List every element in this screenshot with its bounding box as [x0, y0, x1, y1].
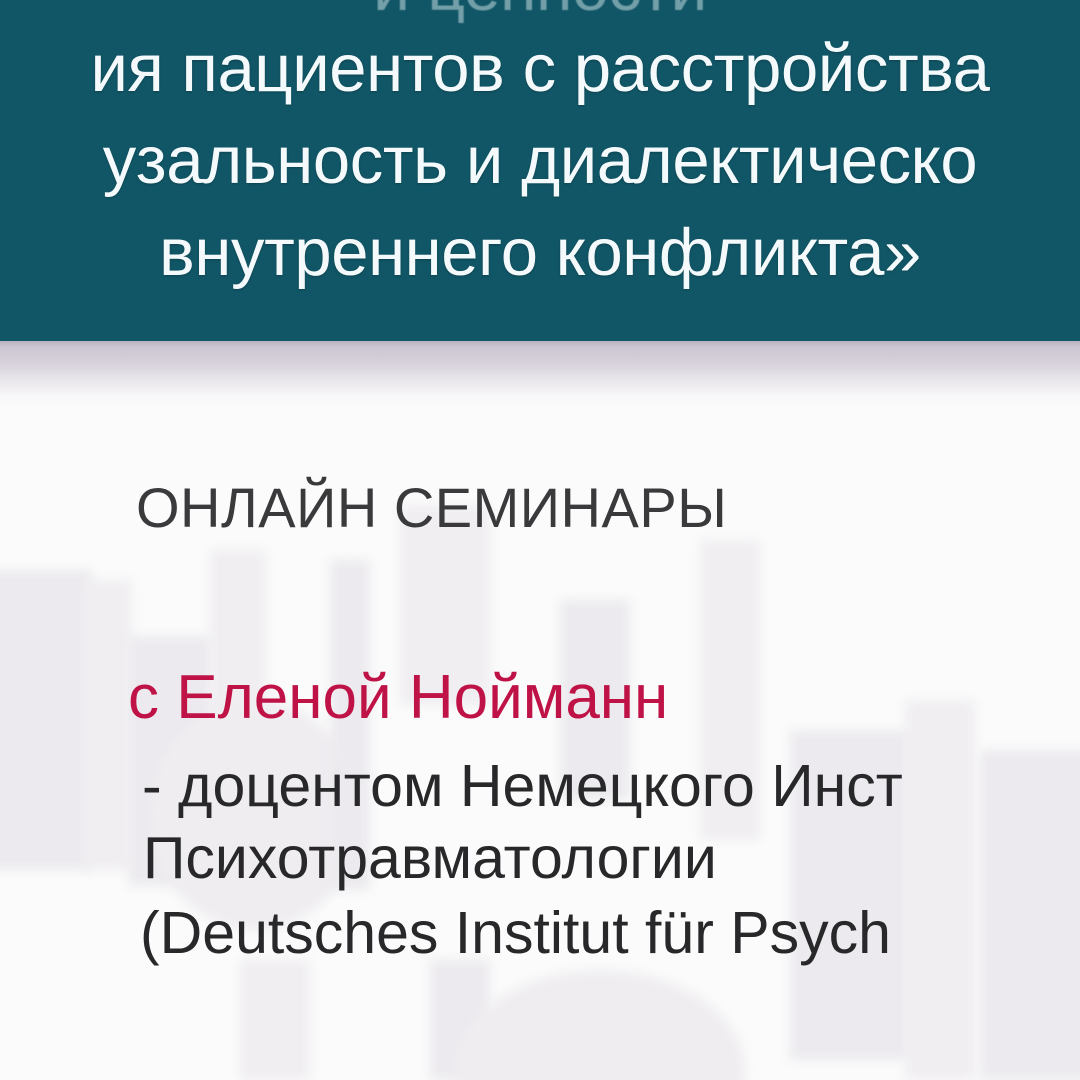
promo-slide: и ценности ия пациентов с расстройства у… [0, 0, 1080, 1080]
presenter-role-line-1: - доцентом Немецкого Инст [142, 752, 903, 820]
title-banner: и ценности ия пациентов с расстройства у… [0, 0, 1080, 341]
banner-clipped-line-above: и ценности [0, 0, 1080, 30]
gradient-divider [0, 341, 1080, 407]
watermark-shape-14 [980, 750, 1080, 1080]
title-banner-inner: и ценности ия пациентов с расстройства у… [0, 0, 1080, 341]
banner-title-line-1: ия пациентов с расстройства [0, 32, 1080, 106]
presenter-role-line-3: (Deutsches Institut für Psych [140, 899, 891, 967]
section-kicker: ОНЛАЙН СЕМИНАРЫ [136, 476, 727, 540]
watermark-shape-9 [455, 970, 745, 1080]
presenter-name: с Еленой Нойманн [128, 663, 668, 733]
watermark-shape-1 [0, 570, 92, 870]
watermark-shape-13 [905, 700, 975, 1080]
banner-title-line-3: внутреннего конфликта» [0, 216, 1080, 290]
presenter-role-line-2: Психотравматологии [143, 824, 717, 892]
watermark-shape-2 [84, 580, 132, 870]
banner-title-line-2: узальность и диалектическо [0, 124, 1080, 198]
watermark-shape-8 [430, 960, 490, 1080]
watermark-shape-15 [240, 960, 310, 1080]
